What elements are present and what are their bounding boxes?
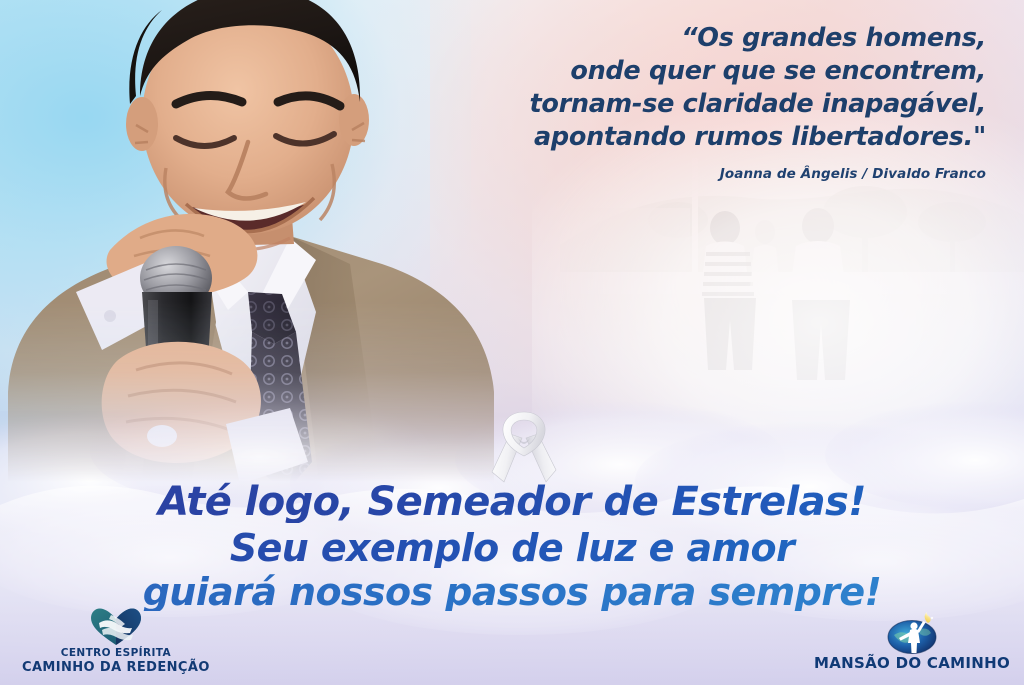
logo-mansao-do-caminho: MANSÃO DO CAMINHO — [814, 611, 1010, 673]
logo-right-name: MANSÃO DO CAMINHO — [814, 655, 1010, 673]
memorial-poster: “Os grandes homens, onde quer que se enc… — [0, 0, 1024, 685]
quote-line-1: “Os grandes homens, — [406, 22, 986, 55]
quote-line-4: apontando rumos libertadores." — [406, 121, 986, 154]
white-awareness-ribbon-icon — [488, 408, 560, 490]
logo-right-text: MANSÃO DO CAMINHO — [814, 655, 1010, 673]
headline-line-2: Seu exemplo de luz e amor — [0, 529, 1024, 568]
logo-left-line-2: CAMINHO DA REDENÇÃO — [22, 660, 210, 675]
logo-left-text: CENTRO ESPÍRITA CAMINHO DA REDENÇÃO — [22, 647, 210, 675]
headline-line-3: guiará nossos passos para sempre! — [0, 573, 1024, 612]
logo-left-line-1: CENTRO ESPÍRITA — [22, 647, 210, 659]
headline-block: Até logo, Semeador de Estrelas! Seu exem… — [0, 482, 1024, 611]
head — [126, 0, 369, 250]
quote-block: “Os grandes homens, onde quer que se enc… — [406, 22, 986, 182]
ring — [147, 425, 177, 447]
quote-line-3: tornam-se claridade inapagável, — [406, 88, 986, 121]
quote-attribution: Joanna de Ângelis / Divaldo Franco — [406, 166, 986, 182]
headline-line-1: Até logo, Semeador de Estrelas! — [0, 482, 1024, 523]
logo-centro-espirita-caminho-da-redencao: CENTRO ESPÍRITA CAMINHO DA REDENÇÃO — [22, 607, 210, 675]
globe-figure-flame-icon — [886, 611, 938, 655]
quote-line-2: onde quer que se encontrem, — [406, 55, 986, 88]
heart-hands-icon — [89, 607, 143, 647]
